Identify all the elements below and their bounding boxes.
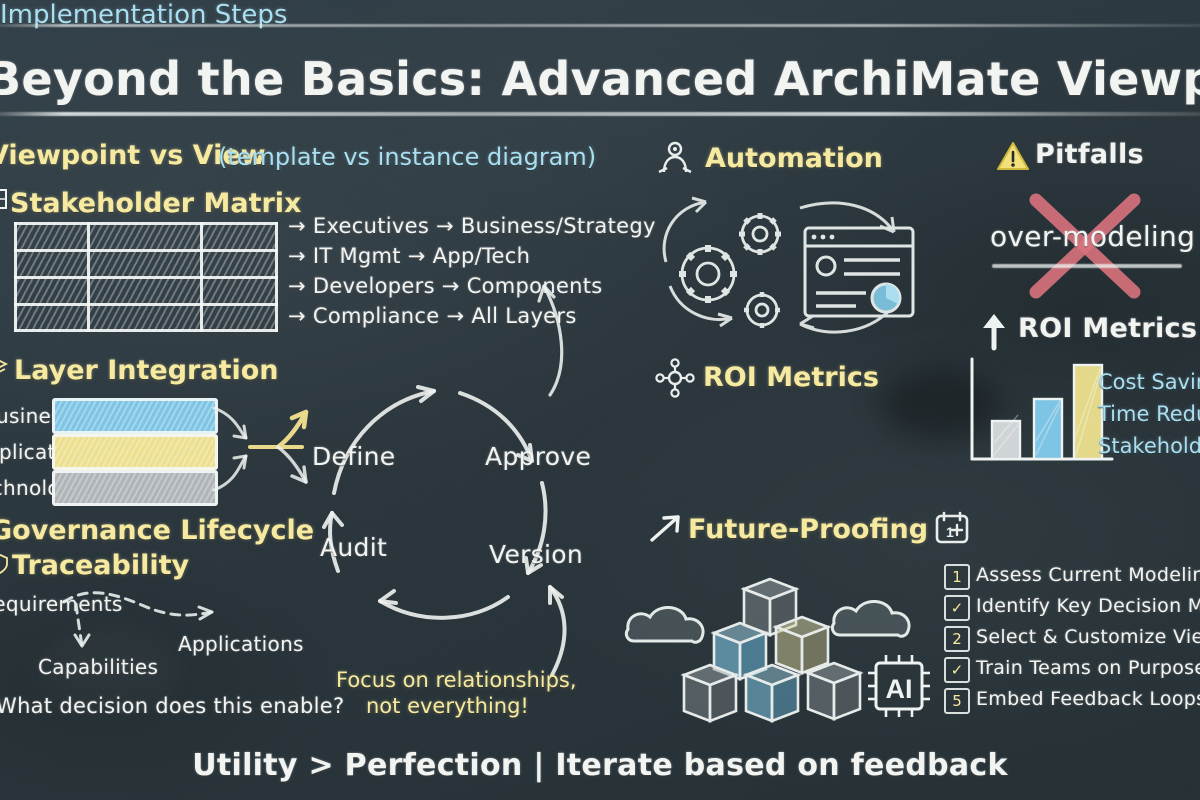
layer-integration-heading: Layer Integration (14, 355, 279, 386)
step-number: 5 (946, 690, 968, 712)
node-network-icon (655, 358, 695, 398)
arrow-glyph: → (288, 274, 313, 298)
focus-note-line2: not everything! (366, 694, 529, 718)
step-label-3: Select & Customize Viewpoints (976, 626, 1200, 648)
cycle-node-define: Define (312, 442, 395, 471)
step-marker-2[interactable]: ✓ (944, 595, 970, 621)
step-number: 1 (946, 566, 968, 588)
step-marker-4[interactable]: ✓ (944, 657, 970, 683)
stakeholder-mapping-row: → IT Mgmt → App/Tech (288, 244, 530, 268)
arrow-glyph: → (401, 244, 433, 268)
cycle-node-version: Version (489, 540, 583, 569)
step-label-5: Embed Feedback Loops (976, 688, 1200, 710)
cycle-node-approve: Approve (485, 442, 591, 471)
step-check: ✓ (946, 597, 968, 619)
top-chalk-rule (0, 24, 1200, 27)
trend-arrow-icon (648, 512, 684, 544)
mapping-from: Developers (313, 274, 435, 298)
roi-legend-cost-savings: Cost Savings (1098, 370, 1200, 394)
mapping-from: Executives (313, 214, 429, 238)
step-marker-5[interactable]: 5 (944, 688, 970, 714)
arrow-glyph: → (429, 214, 461, 238)
step-label-2: Identify Key Decision Makers (976, 595, 1200, 617)
arrow-glyph: → (435, 274, 467, 298)
roi-metrics-heading-right: ROI Metrics (1018, 313, 1197, 344)
layer-bar-application (52, 434, 218, 470)
layer-integration-arrows (206, 394, 316, 504)
up-arrow-icon (978, 310, 1010, 350)
svg-text:1: 1 (946, 524, 954, 540)
pitfall-over-modeling-label: over-modeling (990, 220, 1195, 253)
viewpoint-vs-view-note: (template vs instance diagram) (218, 143, 596, 171)
step-label-4: Train Teams on Purpose, Not Notation (976, 657, 1200, 679)
trace-applications-label: Applications (178, 632, 304, 656)
mapping-from: IT Mgmt (313, 244, 401, 268)
mapping-to: Business/Strategy (461, 214, 656, 238)
roi-metrics-heading-center: ROI Metrics (703, 362, 879, 393)
governance-cycle-arrows (310, 375, 590, 685)
title-underline-rule (0, 112, 1200, 116)
ai-chip-label: AI (886, 674, 913, 704)
layers-icon (0, 356, 8, 380)
governance-heading-line1: Governance Lifecycle (0, 515, 314, 546)
over-modeling-underline (992, 264, 1182, 268)
chalkboard: Beyond the Basics: Advanced ArchiMate Vi… (0, 0, 1200, 800)
cube (776, 617, 828, 673)
arrow-glyph: → (440, 304, 472, 328)
future-proofing-heading: Future-Proofing (688, 514, 928, 545)
roi-legend-time-reduction: Time Reduction (1098, 402, 1200, 426)
governance-question: What decision does this enable? (0, 694, 344, 718)
cube (684, 665, 736, 721)
robot-icon (655, 138, 695, 178)
arrow-glyph: → (288, 244, 313, 268)
step-check: ✓ (946, 659, 968, 681)
pitfalls-heading: Pitfalls (1035, 139, 1144, 170)
stakeholder-mapping-row: → Executives → Business/Strategy (288, 214, 656, 238)
governance-heading-line2: Traceability (12, 550, 189, 581)
calendar-plus-icon: 1 (934, 511, 970, 545)
step-number: 2 (946, 628, 968, 650)
shield-icon (0, 552, 10, 576)
automation-gears-diagram (650, 190, 910, 350)
cube (746, 665, 798, 721)
layer-bar-business (52, 398, 218, 434)
focus-note-line1: Focus on relationships, (336, 668, 577, 692)
trace-capabilities-label: Capabilities (38, 655, 158, 679)
footer-tagline: Utility > Perfection | Iterate based on … (0, 748, 1200, 783)
arrow-glyph: → (288, 304, 313, 328)
roi-legend-stakeholder: Stakeholder Buy-in (1098, 434, 1200, 458)
future-proofing-cubes-diagram: AI (618, 555, 928, 730)
grid-icon (0, 186, 8, 212)
stakeholder-matrix-table (14, 222, 278, 332)
layer-bar-technology (52, 470, 218, 506)
ai-chip-icon: AI (868, 655, 930, 717)
mapping-to: App/Tech (433, 244, 531, 268)
cube (808, 663, 860, 719)
arrow-glyph: → (288, 214, 313, 238)
mapping-from: Compliance (313, 304, 440, 328)
stakeholder-matrix-heading: Stakeholder Matrix (10, 188, 301, 219)
warning-triangle-icon (996, 140, 1030, 172)
cycle-node-audit: Audit (320, 533, 387, 562)
step-label-1: Assess Current Modeling Practice (976, 564, 1200, 586)
step-marker-3[interactable]: 2 (944, 626, 970, 652)
automation-heading: Automation (705, 143, 883, 174)
step-marker-1[interactable]: 1 (944, 564, 970, 590)
page-title: Beyond the Basics: Advanced ArchiMate Vi… (0, 52, 1200, 106)
